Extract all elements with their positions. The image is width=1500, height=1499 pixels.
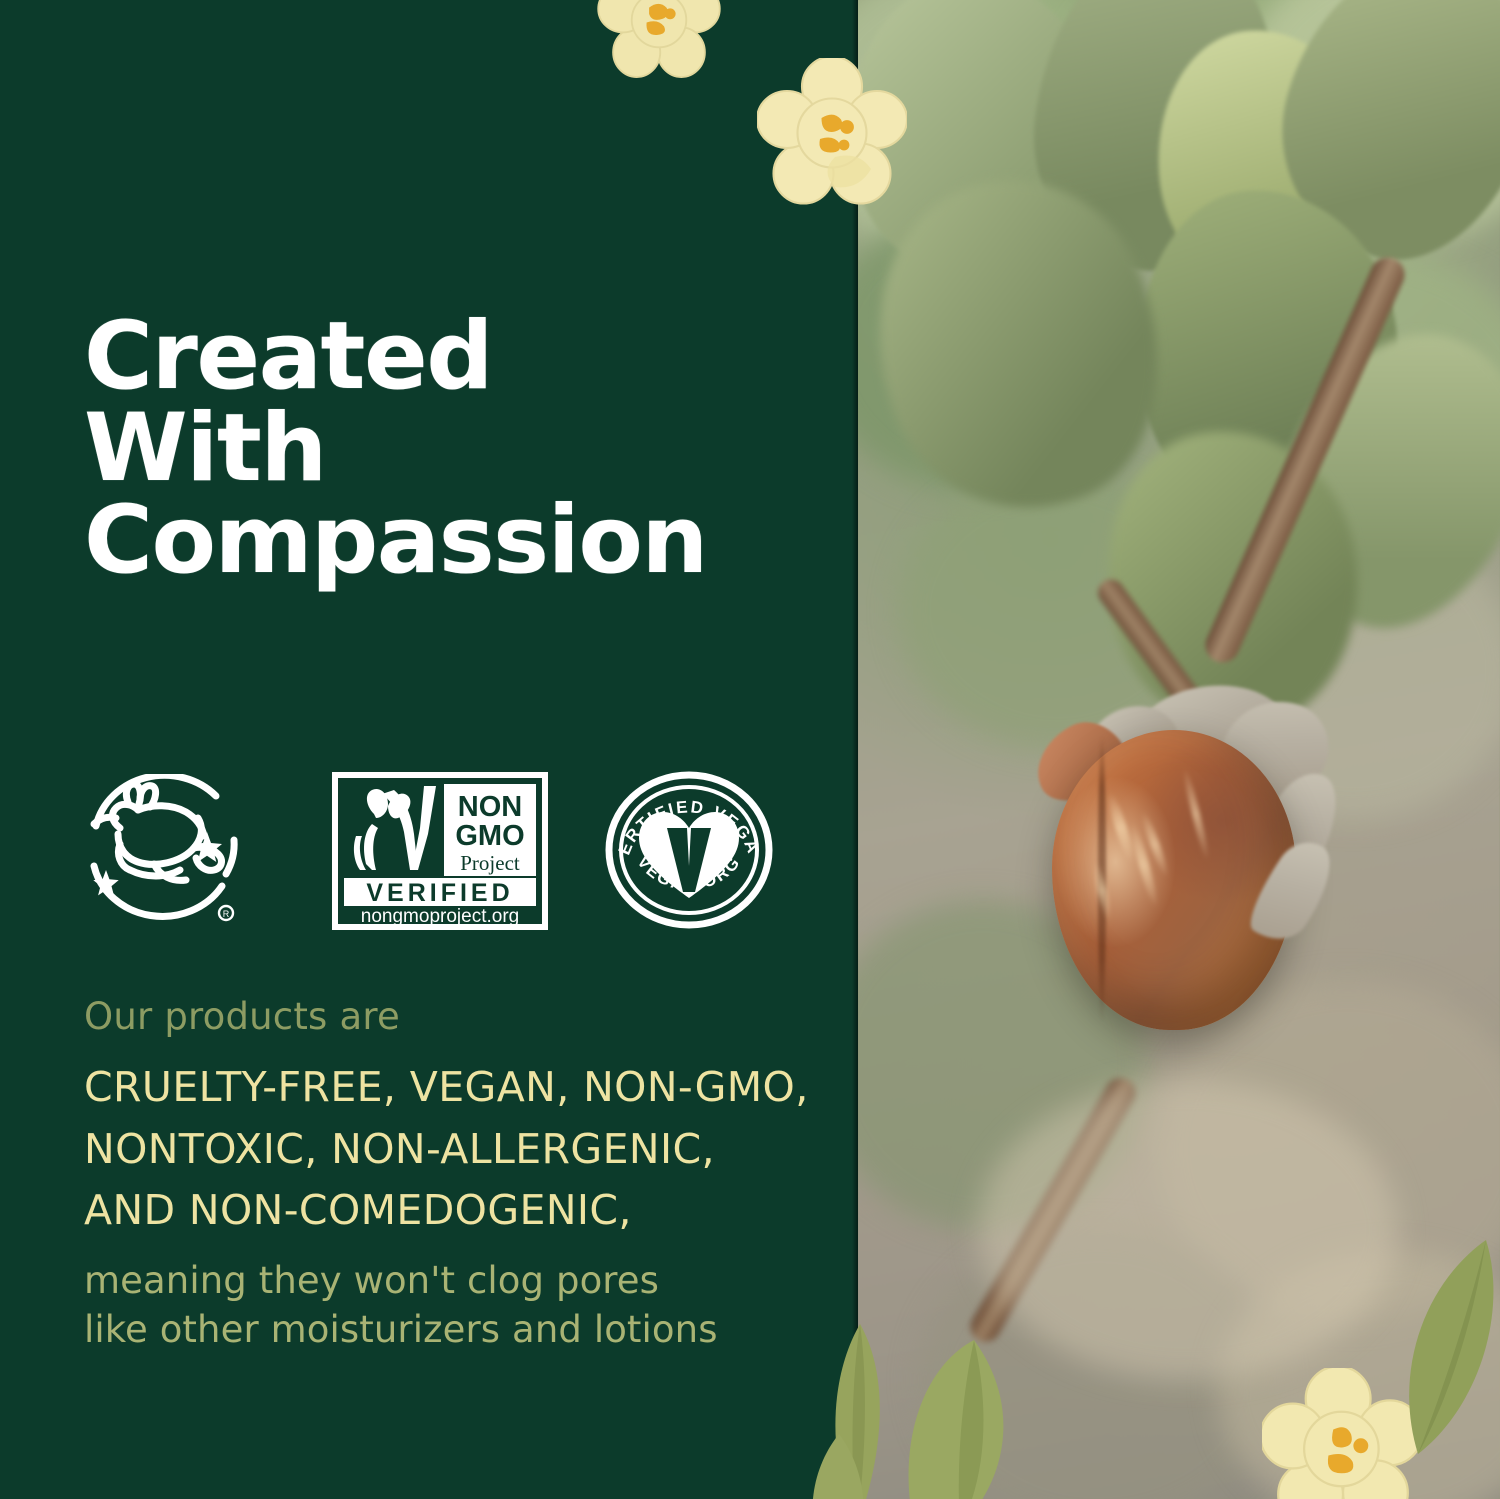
claims-highlight: CRUELTY-FREE, VEGAN, NON-GMO, NONTOXIC, … [84,1057,844,1242]
page-title: Created With Compassion [84,311,707,587]
photo-haze [978,1080,1398,1380]
headline-line-2: With [84,403,707,495]
decor-leaf-icon [890,1338,1030,1499]
leaping-bunny-icon: R [76,774,244,929]
jojoba-seed [1028,690,1328,1050]
butterfly-grass-icon [354,786,436,870]
non-gmo-project-verified-icon: NON GMO Project VERIFIED nongmoproject.o… [332,772,548,930]
certified-vegan-badge: CERTIFIED VEGAN VEGAN.ORG [603,770,775,935]
claim-tail-line-1: meaning they won't clog pores [84,1256,844,1306]
claims-lead: Our products are [84,998,844,1035]
headline-line-1: Created [84,311,707,403]
decor-leaf-icon [795,1430,881,1499]
decor-leaf-icon [1390,1236,1500,1456]
leaping-bunny-badge: R [76,774,244,934]
non-gmo-url: nongmoproject.org [361,906,519,927]
non-gmo-verified-label: VERIFIED [366,879,513,907]
claim-tail-line-2: like other moisturizers and lotions [84,1305,844,1355]
claims-block: Our products are CRUELTY-FREE, VEGAN, NO… [84,998,844,1355]
marketing-banner: Created With Compassion [0,0,1500,1499]
non-gmo-line1: NON [458,791,522,823]
non-gmo-badge: NON GMO Project VERIFIED nongmoproject.o… [332,772,548,935]
non-gmo-line2: GMO [455,820,524,852]
panel-edge-shadow [852,0,858,1499]
certified-vegan-icon: CERTIFIED VEGAN VEGAN.ORG [603,770,775,930]
seed-body [1052,730,1296,1030]
non-gmo-line3: Project [460,851,520,875]
decor-flower-icon [597,0,721,82]
registered-mark-letter: R [223,909,230,919]
claim-line-1: CRUELTY-FREE, VEGAN, NON-GMO, [84,1057,844,1119]
claims-tail: meaning they won't clog pores like other… [84,1256,844,1356]
headline-line-3: Compassion [84,495,707,587]
certification-badges: R NON GMO Project [76,770,786,935]
claim-line-2: NONTOXIC, NON-ALLERGENIC, [84,1119,844,1181]
claim-line-3: AND NON-COMEDOGENIC, [84,1180,844,1242]
decor-flower-icon [757,58,907,208]
